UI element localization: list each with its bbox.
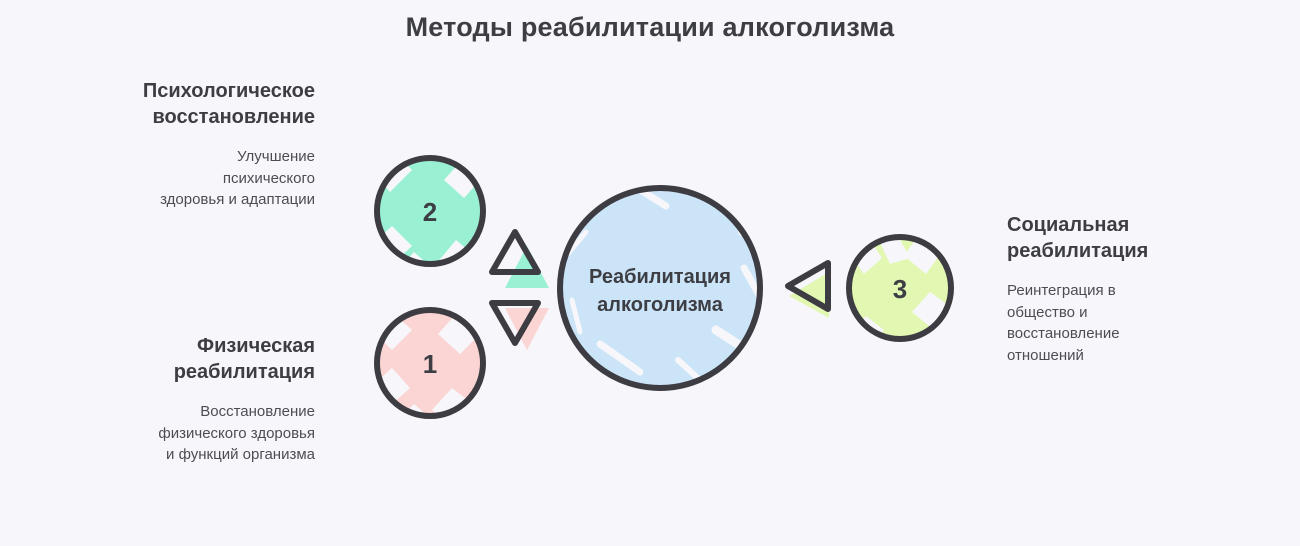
node-one[interactable]: 1 [372, 310, 483, 436]
node-three[interactable]: 3 [848, 232, 952, 350]
arrow-left-green [788, 263, 829, 318]
arrow-up-green-outline [492, 232, 538, 272]
arrow-down-pink [492, 303, 549, 350]
center-node[interactable]: Реабилитация алкоголизма [560, 168, 766, 388]
infographic-canvas: Методы реабилитации алкоголизма Психолог… [0, 0, 1300, 546]
center-label-line1: Реабилитация [589, 266, 731, 288]
node-three-number: 3 [893, 274, 907, 304]
node-two-number: 2 [423, 197, 437, 227]
arrow-down-pink-shadow [505, 308, 549, 350]
node-two[interactable]: 2 [372, 152, 483, 286]
arrow-up-green [492, 232, 549, 288]
diagram-svg: Реабилитация алкоголизма 2 [0, 0, 1300, 546]
center-label-line2: алкоголизма [597, 294, 724, 316]
node-one-number: 1 [423, 349, 437, 379]
